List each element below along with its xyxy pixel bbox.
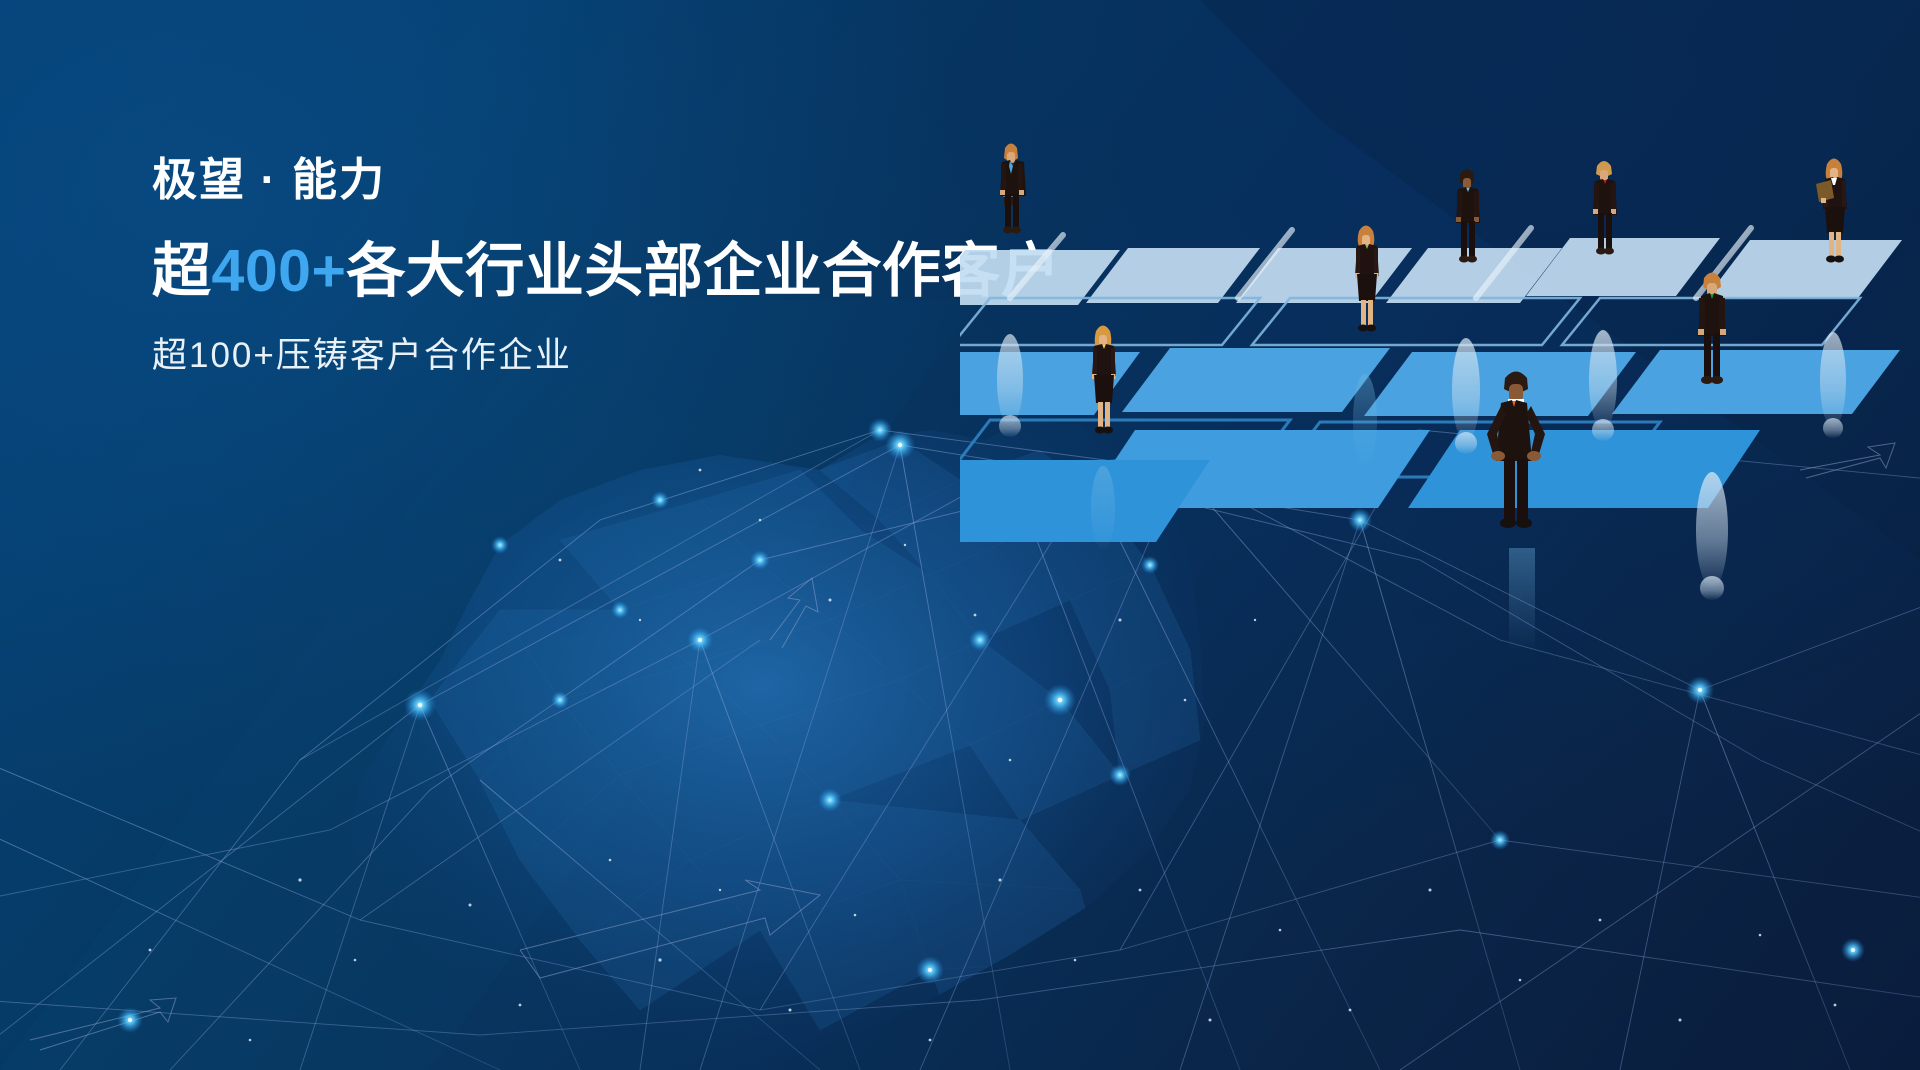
- platform-outline: [960, 298, 1580, 345]
- hero-banner: 极望 · 能力 超400+各大行业头部企业合作客户 超100+压铸客户合作企业: [0, 0, 1920, 1070]
- face: [1600, 170, 1608, 181]
- skirt: [1357, 274, 1377, 301]
- reflection: [1509, 548, 1535, 648]
- reflection: [997, 334, 1023, 437]
- reflection: [1091, 466, 1115, 550]
- face: [1509, 384, 1523, 401]
- reflection: [1820, 332, 1846, 438]
- figure-man-dark-skin-center-back: [1452, 169, 1480, 454]
- face: [1463, 178, 1471, 189]
- headline-highlight-count: 400+: [212, 238, 347, 304]
- platform-pale: [1236, 248, 1412, 303]
- platform-pale: [1526, 238, 1720, 296]
- platform-blue: [1612, 350, 1900, 414]
- business-people-illustration: [960, 130, 1920, 690]
- platform-blue: [1122, 348, 1390, 412]
- left-hand: [1491, 451, 1505, 461]
- figure-man-red-tie-upper-mid: [1589, 161, 1617, 441]
- reflection: [1353, 374, 1377, 466]
- reflection: [1696, 472, 1728, 600]
- face: [1099, 335, 1107, 346]
- headline-suffix: 各大行业头部企业合作客户: [346, 238, 1060, 304]
- right-hand: [1527, 451, 1541, 461]
- figure-woman-yellow-scarf-left: [1091, 326, 1116, 551]
- face: [1362, 235, 1370, 246]
- reflection: [1589, 330, 1617, 441]
- platform-blue-front: [960, 460, 1210, 542]
- skirt: [1094, 375, 1114, 403]
- face: [1830, 168, 1838, 179]
- headline-prefix: 超: [152, 238, 212, 304]
- skirt: [1825, 207, 1845, 233]
